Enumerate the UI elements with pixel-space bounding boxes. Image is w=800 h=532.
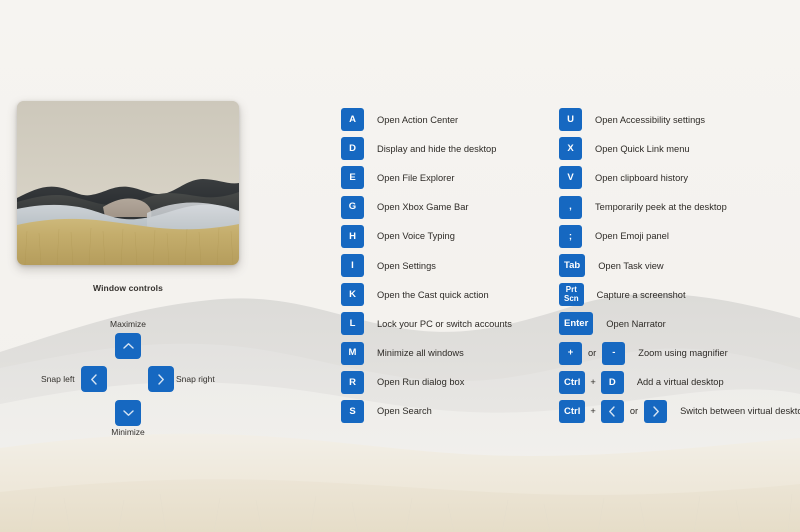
key-joiner-or: or	[630, 406, 638, 416]
shortcut-row: PrtScnCapture a screenshot	[559, 280, 797, 309]
shortcut-description: Zoom using magnifier	[638, 348, 727, 358]
wallpaper-image	[17, 101, 239, 265]
key-v[interactable]: V	[559, 166, 582, 189]
minimize-label: Minimize	[0, 427, 256, 437]
shortcut-row: GOpen Xbox Game Bar	[341, 193, 546, 222]
shortcut-row: AOpen Action Center	[341, 105, 546, 134]
key-g[interactable]: G	[341, 196, 364, 219]
chevron-right-icon	[652, 406, 660, 417]
shortcut-description: Open Quick Link menu	[595, 144, 690, 154]
shortcut-description: Open Narrator	[606, 319, 665, 329]
key-symbol[interactable]: ;	[559, 225, 582, 248]
chevron-down-icon	[123, 409, 134, 417]
chevron-left-icon	[90, 374, 98, 385]
key-label: X	[567, 144, 573, 154]
shortcut-row: LLock your PC or switch accounts	[341, 309, 546, 338]
shortcut-row: UOpen Accessibility settings	[559, 105, 797, 134]
chevron-right-icon	[157, 374, 165, 385]
shortcut-row: DDisplay and hide the desktop	[341, 134, 546, 163]
key-label: H	[349, 232, 356, 242]
key-d[interactable]: D	[601, 371, 624, 394]
shortcut-description: Open Task view	[598, 261, 663, 271]
key-label: Enter	[564, 319, 588, 329]
key-label: ,	[569, 202, 572, 212]
key-label: U	[567, 115, 574, 125]
key-k[interactable]: K	[341, 283, 364, 306]
shortcut-row: +or-Zoom using magnifier	[559, 339, 797, 368]
key-r[interactable]: R	[341, 371, 364, 394]
key-d[interactable]: D	[341, 137, 364, 160]
key-label: ;	[569, 232, 572, 242]
key-symbol[interactable]: -	[602, 342, 625, 365]
key-m[interactable]: M	[341, 342, 364, 365]
snap-left-label: Snap left	[41, 374, 75, 384]
shortcut-row: Ctrl+DAdd a virtual desktop	[559, 368, 797, 397]
key-label: K	[349, 290, 356, 300]
shortcut-row: EOpen File Explorer	[341, 163, 546, 192]
key-label: Tab	[564, 261, 580, 271]
shortcut-row: XOpen Quick Link menu	[559, 134, 797, 163]
key-label: D	[609, 378, 616, 388]
key-prt-scn[interactable]: PrtScn	[559, 283, 584, 306]
shortcut-description: Open Action Center	[377, 115, 458, 125]
shortcut-row: TabOpen Task view	[559, 251, 797, 280]
key-ctrl[interactable]: Ctrl	[559, 371, 585, 394]
key-e[interactable]: E	[341, 166, 364, 189]
shortcut-row: EnterOpen Narrator	[559, 309, 797, 338]
shortcut-description: Display and hide the desktop	[377, 144, 496, 154]
key-s[interactable]: S	[341, 400, 364, 423]
key-symbol[interactable]: ,	[559, 196, 582, 219]
shortcut-description: Lock your PC or switch accounts	[377, 319, 512, 329]
key-left-arrow[interactable]	[601, 400, 624, 423]
shortcut-description: Temporarily peek at the desktop	[595, 202, 727, 212]
shortcut-description: Minimize all windows	[377, 348, 464, 358]
shortcut-description: Open File Explorer	[377, 173, 455, 183]
key-x[interactable]: X	[559, 137, 582, 160]
shortcut-description: Add a virtual desktop	[637, 377, 724, 387]
key-ctrl[interactable]: Ctrl	[559, 400, 585, 423]
key-label: I	[351, 261, 354, 271]
key-label: G	[349, 202, 356, 212]
key-label: A	[349, 115, 356, 125]
shortcut-row: SOpen Search	[341, 397, 546, 426]
left-arrow-key[interactable]	[81, 366, 107, 392]
shortcut-row: VOpen clipboard history	[559, 163, 797, 192]
shortcut-row: HOpen Voice Typing	[341, 222, 546, 251]
key-label: -	[612, 348, 615, 358]
key-label: Ctrl	[564, 407, 580, 417]
shortcut-row: ;Open Emoji panel	[559, 222, 797, 251]
key-label: S	[349, 407, 355, 417]
shortcut-description: Open the Cast quick action	[377, 290, 489, 300]
shortcut-description: Open Run dialog box	[377, 377, 464, 387]
key-l[interactable]: L	[341, 312, 364, 335]
shortcut-description: Capture a screenshot	[597, 290, 686, 300]
chevron-up-icon	[123, 342, 134, 350]
wallpaper-illustration	[17, 101, 239, 265]
shortcut-row: Ctrl+orSwitch between virtual desktops	[559, 397, 797, 426]
down-arrow-key[interactable]	[115, 400, 141, 426]
key-joiner-or: or	[588, 348, 596, 358]
window-controls-diagram: Window controls Maximize Minimize Snap l…	[0, 283, 256, 438]
key-label: D	[349, 144, 356, 154]
shortcut-row: KOpen the Cast quick action	[341, 280, 546, 309]
up-arrow-key[interactable]	[115, 333, 141, 359]
key-enter[interactable]: Enter	[559, 312, 593, 335]
key-label: L	[350, 319, 356, 329]
key-a[interactable]: A	[341, 108, 364, 131]
key-joiner-plus: +	[590, 377, 595, 387]
shortcut-row: ,Temporarily peek at the desktop	[559, 193, 797, 222]
shortcut-description: Open Emoji panel	[595, 231, 669, 241]
maximize-label: Maximize	[0, 319, 256, 329]
shortcut-description: Open Xbox Game Bar	[377, 202, 468, 212]
shortcut-description: Open Voice Typing	[377, 231, 455, 241]
key-label: +	[568, 348, 574, 358]
key-symbol[interactable]: +	[559, 342, 582, 365]
chevron-left-icon	[608, 406, 616, 417]
shortcut-description: Switch between virtual desktops	[680, 406, 800, 416]
desktop-preview-thumbnail	[17, 101, 239, 265]
shortcut-row: MMinimize all windows	[341, 339, 546, 368]
snap-right-label: Snap right	[176, 374, 215, 384]
key-label: R	[349, 378, 356, 388]
key-tab[interactable]: Tab	[559, 254, 585, 277]
key-u[interactable]: U	[559, 108, 582, 131]
shortcut-description: Open clipboard history	[595, 173, 688, 183]
key-h[interactable]: H	[341, 225, 364, 248]
key-label: M	[349, 348, 357, 358]
key-label: Scn	[564, 295, 579, 304]
shortcuts-column-right: UOpen Accessibility settingsXOpen Quick …	[559, 105, 797, 426]
key-joiner-plus: +	[590, 406, 595, 416]
shortcut-row: ROpen Run dialog box	[341, 368, 546, 397]
key-label: V	[567, 173, 573, 183]
shortcut-description: Open Settings	[377, 261, 436, 271]
shortcuts-column-left: AOpen Action CenterDDisplay and hide the…	[341, 105, 546, 426]
key-label: E	[349, 173, 355, 183]
key-label: Ctrl	[564, 378, 580, 388]
shortcut-description: Open Search	[377, 406, 432, 416]
right-arrow-key[interactable]	[148, 366, 174, 392]
shortcut-description: Open Accessibility settings	[595, 115, 705, 125]
window-controls-title: Window controls	[0, 283, 256, 293]
shortcut-row: IOpen Settings	[341, 251, 546, 280]
key-i[interactable]: I	[341, 254, 364, 277]
key-right-arrow[interactable]	[644, 400, 667, 423]
